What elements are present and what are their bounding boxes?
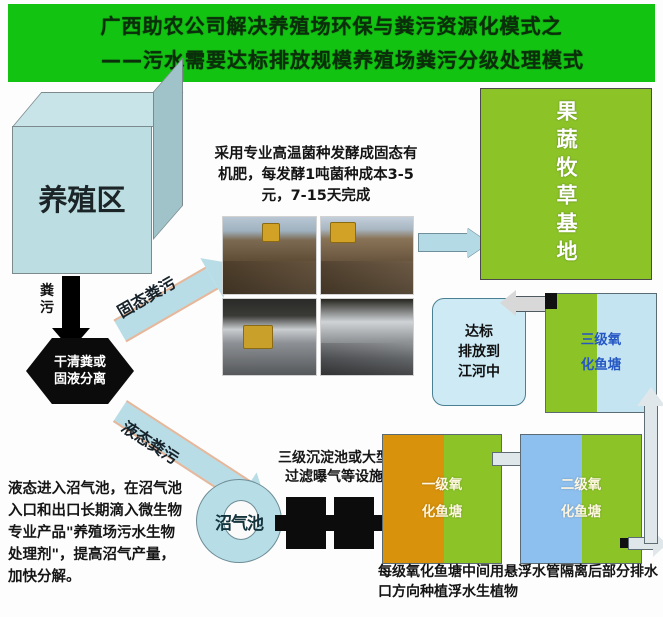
compost-photo-4 bbox=[320, 298, 415, 377]
discharge-arrow bbox=[515, 296, 549, 312]
machine-icon bbox=[262, 223, 280, 242]
filter-caption: 三级沉淀池或大型过滤曝气等设施 bbox=[274, 449, 394, 487]
discharge-line-1: 达标 bbox=[465, 322, 493, 342]
biogas-description: 液态进入沼气池，在沼气池入口和出口长期滴入微生物专业产品"养殖场污水生物处理剂"… bbox=[8, 478, 188, 588]
machine-icon bbox=[330, 222, 356, 244]
title-line-2: ——污水需要达标排放规模养殖场粪污分级处理模式 bbox=[79, 43, 584, 77]
compost-photo-grid bbox=[222, 216, 414, 376]
to-crop-base-arrow bbox=[418, 233, 468, 252]
farm-cube-label: 养殖区 bbox=[38, 180, 125, 220]
machine-icon bbox=[243, 325, 273, 350]
compost-ridge bbox=[321, 343, 414, 375]
pond2-line-1: 二级氧 bbox=[561, 472, 602, 499]
settling-tank-2 bbox=[334, 497, 374, 549]
settling-tank-1 bbox=[286, 497, 326, 549]
pond3-line-2: 化鱼塘 bbox=[581, 353, 622, 378]
pond-description: 每级氧化鱼塘中间用悬浮水管隔离后部分排水口方向种植浮水生植物 bbox=[378, 562, 660, 602]
compost-ridge bbox=[321, 261, 414, 293]
discharge-line-2: 排放到 bbox=[458, 342, 500, 362]
separation-line-1: 干清粪或 bbox=[54, 354, 106, 371]
crop-base-box: 果蔬牧草基地 bbox=[480, 88, 652, 280]
manure-down-arrow bbox=[62, 276, 80, 328]
biogas-label: 沼气池 bbox=[215, 509, 263, 534]
compost-caption: 采用专业高温菌种发酵成固态有机肥，每发酵1吨菌种成本3-5元，7-15天完成 bbox=[212, 144, 420, 207]
compost-photo-1 bbox=[222, 216, 317, 295]
compost-ridge bbox=[223, 261, 316, 293]
compost-photo-2 bbox=[320, 216, 415, 295]
farm-cube: 养殖区 bbox=[12, 92, 190, 280]
biogas-digester: 沼气池 bbox=[196, 479, 282, 563]
pond2-line-2: 化鱼塘 bbox=[561, 499, 602, 526]
crop-base-label: 果蔬牧草基地 bbox=[551, 100, 581, 268]
compost-photo-3 bbox=[222, 298, 317, 377]
cube-front-face: 养殖区 bbox=[12, 126, 152, 274]
pond1-line-1: 一级氧 bbox=[422, 472, 463, 499]
pond3-line-1: 三级氧 bbox=[581, 328, 622, 353]
pond-level-1: 一级氧 化鱼塘 bbox=[382, 434, 502, 564]
separation-line-2: 固液分离 bbox=[54, 371, 106, 388]
cube-side-face bbox=[153, 57, 183, 240]
manure-down-label: 粪污 bbox=[34, 283, 60, 317]
pond3-outlet-nub bbox=[545, 293, 557, 309]
separation-node: 干清粪或 固液分离 bbox=[26, 338, 134, 404]
pond2-to-pond3-riser bbox=[644, 404, 658, 544]
pond1-line-2: 化鱼塘 bbox=[422, 499, 463, 526]
discharge-line-3: 江河中 bbox=[458, 362, 500, 382]
title-banner: 广西助农公司解决养殖场环保与粪污资源化模式之 ——污水需要达标排放规模养殖场粪污… bbox=[8, 4, 655, 82]
title-line-1: 广西助农公司解决养殖场环保与粪污资源化模式之 bbox=[101, 9, 563, 43]
diagram-canvas: 广西助农公司解决养殖场环保与粪污资源化模式之 ——污水需要达标排放规模养殖场粪污… bbox=[0, 0, 663, 617]
pond1-label: 一级氧 化鱼塘 bbox=[383, 435, 501, 563]
